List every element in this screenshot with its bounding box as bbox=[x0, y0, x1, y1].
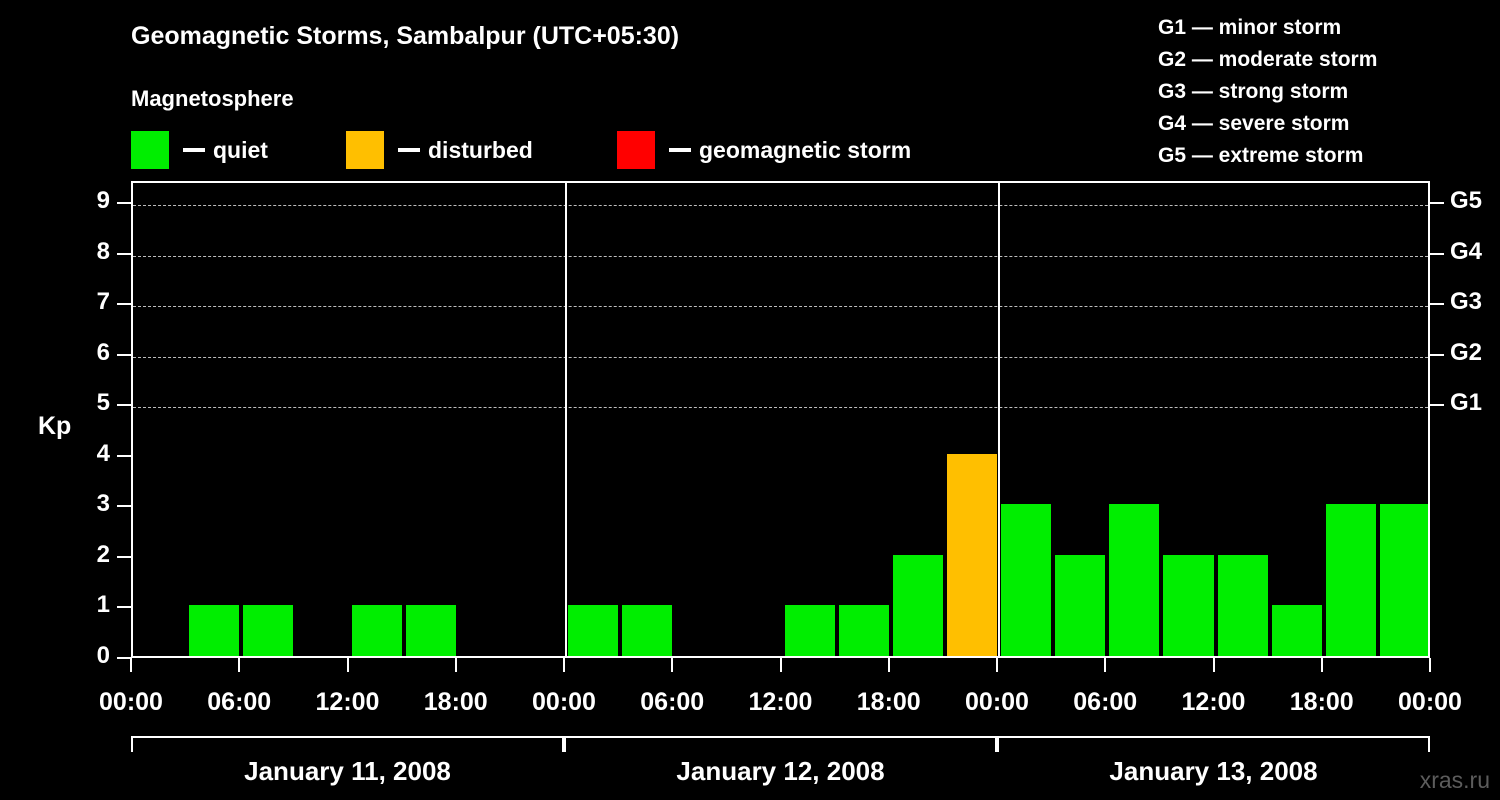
legend-item-disturbed: disturbed bbox=[346, 131, 533, 169]
y-tickmark-3 bbox=[117, 505, 131, 507]
y-tick-label-4: 4 bbox=[0, 440, 110, 468]
x-tick-label-8: 00:00 bbox=[965, 688, 1029, 717]
date-bracket-1 bbox=[131, 736, 564, 752]
g-tick-label-G1: G1 bbox=[1450, 389, 1482, 417]
legend-dash-icon bbox=[669, 148, 691, 152]
bar bbox=[189, 605, 239, 656]
x-tickmark-12 bbox=[1429, 658, 1431, 672]
y-tickmark-0 bbox=[117, 657, 131, 659]
g-tick-label-G5: G5 bbox=[1450, 187, 1482, 215]
y-tickmark-8 bbox=[117, 253, 131, 255]
bar bbox=[622, 605, 672, 656]
y-tick-label-2: 2 bbox=[0, 541, 110, 569]
y-axis-title: Kp bbox=[38, 412, 71, 441]
g-tickmark-G2 bbox=[1430, 354, 1444, 356]
bar bbox=[1218, 555, 1268, 656]
y-tickmark-9 bbox=[117, 202, 131, 204]
day-separator-2 bbox=[998, 183, 1000, 656]
legend-dash-icon bbox=[398, 148, 420, 152]
page-title: Geomagnetic Storms, Sambalpur (UTC+05:30… bbox=[131, 22, 679, 51]
bar bbox=[352, 605, 402, 656]
y-tick-label-0: 0 bbox=[0, 642, 110, 670]
x-tickmark-11 bbox=[1321, 658, 1323, 672]
x-tick-label-10: 12:00 bbox=[1182, 688, 1246, 717]
x-tickmark-0 bbox=[130, 658, 132, 672]
y-tickmark-4 bbox=[117, 455, 131, 457]
x-tick-label-9: 06:00 bbox=[1073, 688, 1137, 717]
bar bbox=[243, 605, 293, 656]
g-tickmark-G4 bbox=[1430, 253, 1444, 255]
x-tick-label-12: 00:00 bbox=[1398, 688, 1462, 717]
x-tickmark-8 bbox=[996, 658, 998, 672]
bar bbox=[947, 454, 997, 656]
chart-subtitle: Magnetosphere bbox=[131, 86, 294, 112]
x-tick-label-0: 00:00 bbox=[99, 688, 163, 717]
bar bbox=[1055, 555, 1105, 656]
date-label-2: January 12, 2008 bbox=[564, 756, 997, 787]
x-tick-label-11: 18:00 bbox=[1290, 688, 1354, 717]
y-tickmark-5 bbox=[117, 404, 131, 406]
gridline-kp-6 bbox=[133, 357, 1428, 358]
legend-swatch-disturbed bbox=[346, 131, 384, 169]
y-tick-label-1: 1 bbox=[0, 591, 110, 619]
bar bbox=[406, 605, 456, 656]
watermark: xras.ru bbox=[1420, 767, 1490, 794]
x-tickmark-10 bbox=[1213, 658, 1215, 672]
g-tick-label-G2: G2 bbox=[1450, 339, 1482, 367]
gscale-legend-line-4: G4 — severe storm bbox=[1158, 108, 1478, 140]
x-tick-label-7: 18:00 bbox=[857, 688, 921, 717]
y-tickmark-6 bbox=[117, 354, 131, 356]
x-tick-label-3: 18:00 bbox=[424, 688, 488, 717]
x-tickmark-6 bbox=[780, 658, 782, 672]
plot-area bbox=[131, 181, 1430, 658]
gscale-legend-line-3: G3 — strong storm bbox=[1158, 76, 1478, 108]
day-separator-1 bbox=[565, 183, 567, 656]
x-tickmark-5 bbox=[671, 658, 673, 672]
legend-item-quiet: quiet bbox=[131, 131, 268, 169]
gscale-legend: G1 — minor stormG2 — moderate stormG3 — … bbox=[1158, 12, 1478, 172]
gridline-kp-9 bbox=[133, 205, 1428, 206]
y-tickmark-7 bbox=[117, 303, 131, 305]
gscale-legend-line-1: G1 — minor storm bbox=[1158, 12, 1478, 44]
y-tickmark-2 bbox=[117, 556, 131, 558]
y-tick-label-7: 7 bbox=[0, 288, 110, 316]
legend-label: quiet bbox=[213, 137, 268, 164]
bar bbox=[1163, 555, 1213, 656]
legend-swatch-geomagnetic-storm bbox=[617, 131, 655, 169]
legend-swatch-quiet bbox=[131, 131, 169, 169]
gridline-kp-8 bbox=[133, 256, 1428, 257]
legend-label: geomagnetic storm bbox=[699, 137, 911, 164]
x-tick-label-6: 12:00 bbox=[749, 688, 813, 717]
x-tick-label-4: 00:00 bbox=[532, 688, 596, 717]
bar bbox=[1001, 504, 1051, 656]
g-tick-label-G4: G4 bbox=[1450, 238, 1482, 266]
y-tick-label-9: 9 bbox=[0, 187, 110, 215]
bar bbox=[1326, 504, 1376, 656]
bar bbox=[1109, 504, 1159, 656]
bar bbox=[568, 605, 618, 656]
gscale-legend-line-2: G2 — moderate storm bbox=[1158, 44, 1478, 76]
bar bbox=[785, 605, 835, 656]
x-tickmark-9 bbox=[1104, 658, 1106, 672]
g-tick-label-G3: G3 bbox=[1450, 288, 1482, 316]
bar bbox=[893, 555, 943, 656]
g-tickmark-G5 bbox=[1430, 202, 1444, 204]
bar bbox=[1272, 605, 1322, 656]
x-tick-label-2: 12:00 bbox=[316, 688, 380, 717]
date-bracket-3 bbox=[997, 736, 1430, 752]
legend-dash-icon bbox=[183, 148, 205, 152]
y-tickmark-1 bbox=[117, 606, 131, 608]
bar bbox=[1380, 504, 1430, 656]
y-tick-label-6: 6 bbox=[0, 339, 110, 367]
y-tick-label-3: 3 bbox=[0, 490, 110, 518]
legend-label: disturbed bbox=[428, 137, 533, 164]
g-tickmark-G1 bbox=[1430, 404, 1444, 406]
gscale-legend-line-5: G5 — extreme storm bbox=[1158, 140, 1478, 172]
x-tickmark-1 bbox=[238, 658, 240, 672]
gridline-kp-7 bbox=[133, 306, 1428, 307]
gridline-kp-5 bbox=[133, 407, 1428, 408]
x-tick-label-5: 06:00 bbox=[640, 688, 704, 717]
x-tick-label-1: 06:00 bbox=[207, 688, 271, 717]
g-tickmark-G3 bbox=[1430, 303, 1444, 305]
legend-item-geomagnetic-storm: geomagnetic storm bbox=[617, 131, 911, 169]
chart-root: Geomagnetic Storms, Sambalpur (UTC+05:30… bbox=[0, 0, 1500, 800]
x-tickmark-7 bbox=[888, 658, 890, 672]
x-tickmark-4 bbox=[563, 658, 565, 672]
bar bbox=[839, 605, 889, 656]
x-tickmark-3 bbox=[455, 658, 457, 672]
y-tick-label-8: 8 bbox=[0, 238, 110, 266]
date-label-1: January 11, 2008 bbox=[131, 756, 564, 787]
x-tickmark-2 bbox=[347, 658, 349, 672]
date-label-3: January 13, 2008 bbox=[997, 756, 1430, 787]
date-bracket-2 bbox=[564, 736, 997, 752]
